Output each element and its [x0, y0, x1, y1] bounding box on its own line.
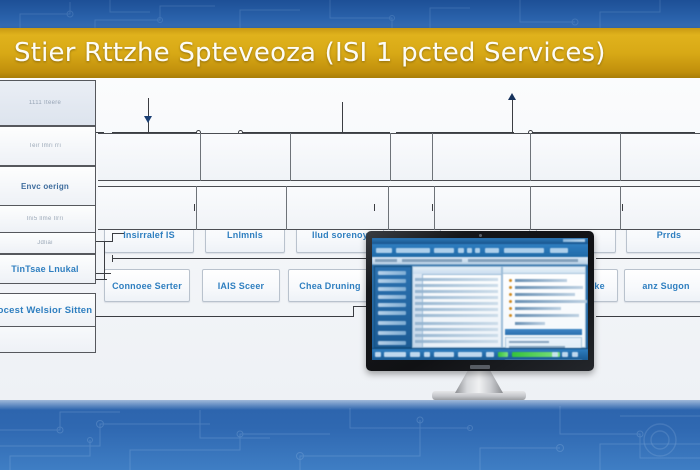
address-bar[interactable] — [372, 257, 588, 265]
connector-line — [512, 98, 513, 132]
status-chip[interactable] — [384, 352, 406, 357]
list-row[interactable] — [415, 334, 498, 337]
title-banner: Stier Rttzhe Spteveoza (ISI 1 pcted Serv… — [0, 28, 700, 78]
flow-row-1-band — [98, 133, 700, 181]
address-segment — [402, 259, 462, 262]
screen-content — [372, 238, 588, 360]
sidebar-item-label: TinTsae Lnukal — [11, 264, 78, 274]
flow-node-row2-2[interactable]: IAIS Sceer — [202, 269, 280, 302]
sidebar-item-label: Envc oerign — [21, 182, 69, 191]
monitor-screen[interactable] — [372, 238, 588, 360]
detail-line — [515, 293, 575, 296]
toolbar-chip[interactable] — [550, 248, 568, 253]
toolbar-chip[interactable] — [475, 248, 480, 253]
tree-item[interactable] — [378, 303, 406, 307]
sidebar-item-label: ocest Welsior Sitten — [0, 305, 92, 316]
detail-pane[interactable] — [502, 266, 586, 348]
flow-node-label: Insirralef IS — [123, 230, 175, 240]
status-progress — [498, 352, 508, 357]
row1-separator — [200, 133, 201, 181]
connector-line — [112, 258, 267, 259]
sidebar-item-label: 1111 Iteere — [29, 100, 61, 106]
page-title: Stier Rttzhe Spteveoza (ISI 1 pcted Serv… — [0, 40, 606, 66]
sidebar-item-3[interactable]: Envc oerign — [0, 166, 96, 206]
tree-item[interactable] — [378, 295, 406, 299]
sidebar-item-2[interactable]: Teir Imri rri — [0, 126, 96, 166]
connector-line — [267, 258, 367, 259]
toolbar-chip[interactable] — [485, 248, 499, 253]
sidebar-gap — [0, 284, 96, 293]
status-chip[interactable] — [410, 352, 420, 357]
arrow-up-icon — [508, 93, 516, 100]
bullet-icon — [509, 307, 512, 310]
toolbar-chip[interactable] — [504, 248, 544, 253]
list-row[interactable] — [415, 308, 498, 311]
list-pane[interactable] — [412, 266, 502, 348]
arrow-down-icon — [144, 116, 152, 123]
diagram-area: Insirralef IS Lnlmnls Ilud sorenoy A cal… — [0, 78, 700, 400]
row1-separator — [530, 133, 531, 181]
sidebar-item-8[interactable] — [0, 327, 96, 353]
row2-separator — [620, 186, 621, 230]
connector-tick — [432, 204, 433, 211]
tree-item[interactable] — [378, 311, 406, 315]
monitor — [366, 231, 594, 371]
status-chip[interactable] — [424, 352, 430, 357]
webcam-icon — [479, 234, 482, 237]
sidebar: 1111 Iteere Teir Imri rri Envc oerign In… — [0, 80, 96, 353]
detail-line — [515, 286, 583, 289]
poster-canvas: Stier Rttzhe Spteveoza (ISI 1 pcted Serv… — [0, 0, 700, 470]
detail-line — [515, 322, 545, 325]
flow-node-label: IAIS Sceer — [218, 281, 265, 291]
sidebar-item-label: Ini5 llme Ilrri — [27, 216, 64, 222]
flow-node-label: Ilud sorenoy — [312, 230, 368, 240]
status-chip[interactable] — [552, 352, 558, 357]
flow-node-label: Chea Druning — [299, 281, 360, 291]
address-segment — [468, 259, 578, 262]
status-chip[interactable] — [434, 352, 454, 357]
list-row[interactable] — [415, 322, 498, 325]
window-toolbar — [372, 244, 588, 258]
toolbar-chip[interactable] — [458, 248, 464, 253]
connector-line — [104, 241, 105, 279]
row2-separator — [434, 186, 435, 230]
flow-node-label: anz Sugon — [642, 281, 689, 291]
list-row[interactable] — [415, 278, 498, 281]
sidebar-item-5[interactable]: Jdliai — [0, 233, 96, 254]
row1-separator — [620, 133, 621, 181]
sidebar-item-label: Jdliai — [37, 240, 52, 246]
detail-section-header — [505, 329, 582, 335]
row2-separator — [530, 186, 531, 230]
bottom-blue-band — [0, 400, 700, 470]
detail-header — [503, 267, 585, 274]
connector-tick — [194, 204, 195, 211]
connector-line — [353, 306, 354, 317]
sidebar-item-7[interactable]: ocest Welsior Sitten — [0, 293, 96, 327]
list-row[interactable] — [415, 328, 498, 331]
list-row[interactable] — [415, 340, 498, 343]
row2-separator — [388, 186, 389, 230]
connector-line — [596, 258, 700, 259]
connector-line — [95, 279, 107, 280]
connector-line — [148, 98, 149, 132]
detail-line — [515, 300, 587, 303]
flow-node-row2-6[interactable]: anz Sugon — [624, 269, 700, 302]
toolbar-chip[interactable] — [467, 248, 472, 253]
connector-line — [596, 316, 700, 317]
monitor-bezel — [366, 231, 594, 371]
connector-line — [92, 316, 354, 317]
row2-separator — [286, 186, 287, 230]
sidebar-item-4[interactable]: Ini5 llme Ilrri — [0, 206, 96, 233]
tree-item[interactable] — [378, 331, 406, 335]
circuit-pattern-bottom — [0, 400, 700, 470]
status-chip[interactable] — [562, 352, 568, 357]
tree-item[interactable] — [378, 321, 406, 325]
list-header — [413, 267, 501, 275]
connector-line — [95, 273, 111, 274]
row1-separator — [290, 133, 291, 181]
list-row[interactable] — [415, 296, 498, 299]
detail-line — [515, 279, 567, 282]
tree-item[interactable] — [378, 271, 406, 275]
sidebar-item-1[interactable]: 1111 Iteere — [0, 80, 96, 126]
bullet-icon — [509, 279, 512, 282]
tree-item[interactable] — [378, 287, 406, 291]
status-chip[interactable] — [458, 352, 482, 357]
list-row[interactable] — [415, 302, 498, 305]
status-chip[interactable] — [572, 352, 578, 357]
tree-item[interactable] — [378, 279, 406, 283]
flow-node-label: Prrds — [657, 230, 682, 240]
row1-separator — [390, 133, 391, 181]
address-segment — [375, 259, 397, 262]
connector-tick — [112, 255, 113, 262]
detail-line — [515, 307, 561, 310]
row2-separator — [196, 186, 197, 230]
bullet-icon — [509, 300, 512, 303]
window-controls[interactable] — [563, 239, 585, 242]
connector-line — [112, 233, 113, 242]
status-chip[interactable] — [375, 352, 381, 357]
bullet-icon — [509, 314, 512, 317]
status-chip[interactable] — [486, 352, 494, 357]
flow-node-row2-1[interactable]: Connoee Serter — [104, 269, 190, 302]
bullet-icon — [509, 293, 512, 296]
status-bar — [372, 348, 588, 360]
row1-separator — [432, 133, 433, 181]
connector-line — [112, 233, 124, 234]
connector-tick — [342, 126, 343, 133]
flow-node-label: Connoee Serter — [112, 281, 182, 291]
connector-tick — [622, 204, 623, 211]
toolbar-chip[interactable] — [396, 248, 430, 253]
connector-line — [353, 306, 366, 307]
detail-line — [515, 314, 579, 317]
detail-line — [509, 341, 549, 343]
monitor-brand-logo — [470, 365, 490, 369]
flow-row-2-band — [98, 186, 700, 230]
sidebar-item-label: Teir Imri rri — [29, 143, 61, 149]
list-row[interactable] — [415, 314, 498, 317]
toolbar-chip[interactable] — [376, 248, 392, 253]
list-row[interactable] — [415, 290, 498, 293]
toolbar-chip[interactable] — [434, 248, 454, 253]
bullet-icon — [509, 286, 512, 289]
flow-node-row2-3[interactable]: Chea Druning — [288, 269, 372, 302]
list-row[interactable] — [415, 284, 498, 287]
connector-tick — [374, 204, 375, 211]
tree-pane[interactable] — [374, 266, 412, 348]
tree-item[interactable] — [378, 341, 406, 345]
flow-node-label: Lnlmnls — [227, 230, 263, 240]
sidebar-item-6[interactable]: TinTsae Lnukal — [0, 254, 96, 284]
